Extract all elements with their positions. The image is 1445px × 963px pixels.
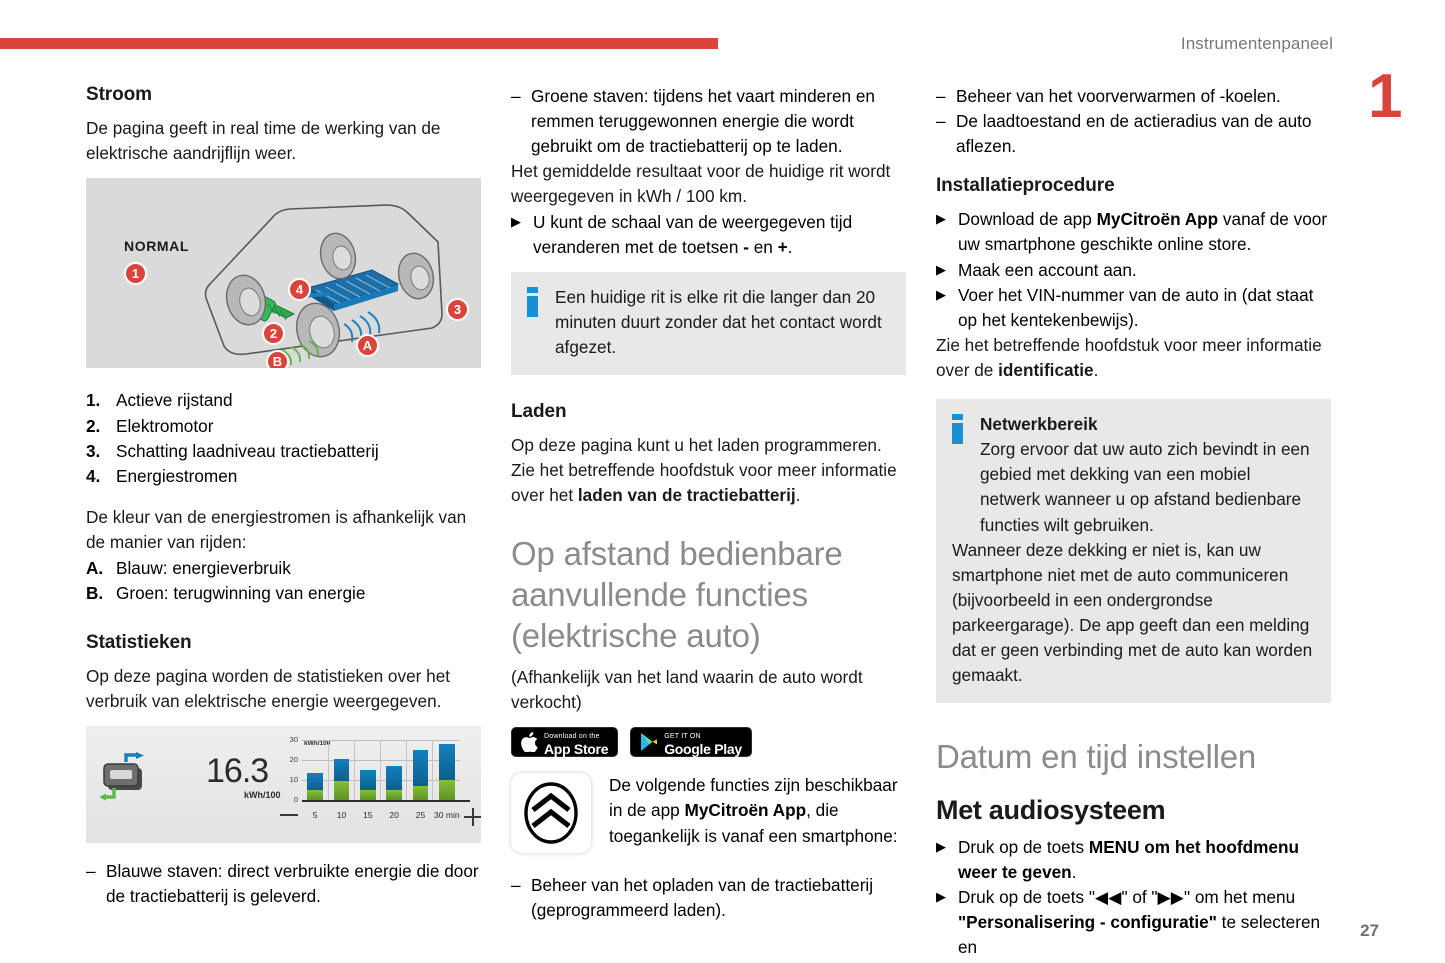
chart-x-labels: 5 10 15 20 25 30 min bbox=[302, 806, 460, 828]
item-label: Schatting laadniveau tractiebatterij bbox=[116, 439, 481, 464]
column-left: Stroom De pagina geeft in real time de w… bbox=[86, 84, 481, 910]
bar-segment-green bbox=[360, 790, 376, 800]
info-box-text: Een huidige rit is elke rit die langer d… bbox=[555, 285, 890, 360]
heading-installatieprocedure: Installatieprocedure bbox=[936, 175, 1331, 197]
app-store-badge[interactable]: Download on the App Store bbox=[511, 727, 618, 757]
fast-forward-icon: ▶▶ bbox=[1158, 887, 1184, 907]
bar-segment-blue bbox=[307, 773, 323, 790]
section-title-datum-en-tijd: Datum en tijd instellen bbox=[936, 737, 1331, 778]
dash-marker: – bbox=[936, 109, 956, 159]
header-accent-bar bbox=[0, 38, 718, 49]
netwerkbereik-paragraph-1: Zorg ervoor dat uw auto zich bevindt in … bbox=[980, 439, 1310, 534]
y-tick-20: 20 bbox=[290, 755, 298, 764]
item-label: Blauw: energieverbruik bbox=[116, 556, 481, 581]
scale-change-text: U kunt de schaal van de weergegeven tijd… bbox=[533, 210, 906, 260]
x-tick-label: 30 min bbox=[434, 806, 460, 828]
install-step-2: ▶ Maak een account aan. bbox=[936, 258, 1331, 283]
stacked-bar bbox=[439, 744, 455, 800]
bar-segment-blue bbox=[413, 750, 429, 786]
column-right: – Beheer van het voorverwarmen of -koele… bbox=[936, 84, 1331, 960]
item-letter: B. bbox=[86, 581, 116, 606]
scale-increase-icon-bar[interactable] bbox=[464, 816, 481, 818]
install-step-2-text: Maak een account aan. bbox=[958, 258, 1331, 283]
y-tick-30: 30 bbox=[290, 735, 298, 744]
average-consumption-unit: kWh/100 bbox=[244, 790, 281, 800]
blue-bars-text: Blauwe staven: direct verbruikte energie… bbox=[106, 859, 481, 909]
laden-text: Op deze pagina kunt u het laden programm… bbox=[511, 433, 906, 508]
citroen-logo-icon bbox=[523, 782, 579, 844]
app-store-badges: Download on the App Store GET IT ON Goog… bbox=[511, 727, 906, 757]
arrow-marker: ▶ bbox=[511, 210, 533, 260]
kleur-intro-text: De kleur van de energiestromen is afhank… bbox=[86, 505, 481, 555]
netwerkbereik-paragraph-2: Wanneer deze dekking er niet is, kan uw … bbox=[952, 538, 1315, 689]
heading-met-audiosysteem: Met audiosysteem bbox=[936, 794, 1331, 826]
powertrain-legend-list: 1. Actieve rijstand 2. Elektromotor 3. S… bbox=[86, 388, 481, 489]
section-title-remote-functions: Op afstand bedienbare aanvullende functi… bbox=[511, 534, 906, 657]
item-number: 1. bbox=[86, 388, 116, 413]
x-tick-label: 25 bbox=[407, 806, 433, 828]
bar-slot bbox=[434, 740, 460, 800]
bar-slot bbox=[381, 740, 407, 800]
bar-segment-blue bbox=[386, 766, 402, 790]
install-step-3: ▶ Voer het VIN-nummer van de auto in (da… bbox=[936, 283, 1331, 333]
bar-segment-blue bbox=[439, 744, 455, 780]
scale-change-instruction: ▶ U kunt de schaal van de weergegeven ti… bbox=[511, 210, 906, 260]
dash-marker: – bbox=[86, 859, 106, 909]
item-number: 4. bbox=[86, 464, 116, 489]
arrow-marker: ▶ bbox=[936, 258, 958, 283]
chapter-number: 1 bbox=[1368, 66, 1402, 128]
google-play-badge[interactable]: GET IT ON Google Play bbox=[630, 727, 752, 757]
remote-function-item-2: – Beheer van het voorverwarmen of -koele… bbox=[936, 84, 1331, 109]
blue-bars-note: – Blauwe staven: direct verbruikte energ… bbox=[86, 859, 481, 909]
identificatie-reference-text: Zie het betreffende hoofdstuk voor meer … bbox=[936, 333, 1331, 383]
page-number: 27 bbox=[1360, 921, 1379, 941]
bar-segment-green bbox=[307, 790, 323, 800]
y-tick-0: 0 bbox=[294, 795, 298, 804]
info-icon bbox=[952, 412, 980, 538]
netwerkbereik-body: NetwerkbereikZorg ervoor dat uw auto zic… bbox=[980, 412, 1315, 538]
app-store-badge-small: Download on the bbox=[544, 733, 600, 740]
audio-step-1-text: Druk op de toets MENU om het hoofdmenu w… bbox=[958, 835, 1331, 885]
page-header-title: Instrumentenpaneel bbox=[1181, 34, 1333, 54]
bar-slot bbox=[407, 740, 433, 800]
item-letter: A. bbox=[86, 556, 116, 581]
figure-powertrain-diagram: NORMAL bbox=[86, 178, 481, 368]
dash-marker: – bbox=[511, 873, 531, 923]
bar-segment-green bbox=[334, 781, 350, 800]
arrow-marker: ▶ bbox=[936, 207, 958, 257]
column-middle: – Groene staven: tijdens het vaart minde… bbox=[511, 84, 906, 924]
dash-marker: – bbox=[511, 84, 531, 159]
arrow-marker: ▶ bbox=[936, 885, 958, 960]
item-number: 2. bbox=[86, 414, 116, 439]
google-play-badge-small: GET IT ON bbox=[664, 733, 701, 740]
google-play-icon bbox=[640, 732, 658, 752]
chart-y-axis: 30 20 10 0 bbox=[282, 738, 300, 802]
info-box-current-trip: Een huidige rit is elke rit die langer d… bbox=[511, 272, 906, 375]
audio-step-2-text: Druk op de toets "◀◀" of "▶▶" om het men… bbox=[958, 885, 1331, 960]
statistieken-intro-text: Op deze pagina worden de statistieken ov… bbox=[86, 664, 481, 714]
audio-step-2: ▶ Druk op de toets "◀◀" of "▶▶" om het m… bbox=[936, 885, 1331, 960]
green-bars-text: Groene staven: tijdens het vaart mindere… bbox=[531, 84, 906, 159]
heading-laden: Laden bbox=[511, 401, 906, 423]
list-item: A. Blauw: energieverbruik bbox=[86, 556, 481, 581]
install-step-1: ▶ Download de app MyCitroën App vanaf de… bbox=[936, 207, 1331, 257]
heading-stroom: Stroom bbox=[86, 84, 481, 106]
install-step-3-text: Voer het VIN-nummer van de auto in (dat … bbox=[958, 283, 1331, 333]
remote-function-item-3: – De laadtoestand en de actieradius van … bbox=[936, 109, 1331, 159]
consumption-bar-chart: 30 20 10 0 kWh/100 bbox=[282, 738, 472, 836]
average-consumption-value: 16.3 bbox=[206, 752, 268, 791]
stacked-bar bbox=[360, 770, 376, 800]
rewind-icon: ◀◀ bbox=[1095, 887, 1121, 907]
item-label: Groen: terugwinning van energie bbox=[116, 581, 481, 606]
arrow-marker: ▶ bbox=[936, 283, 958, 333]
netwerkbereik-title: Netwerkbereik bbox=[980, 414, 1098, 434]
bar-slot bbox=[355, 740, 381, 800]
item-label: Elektromotor bbox=[116, 414, 481, 439]
stroom-intro-text: De pagina geeft in real time de werking … bbox=[86, 116, 481, 166]
bar-segment-green bbox=[439, 780, 455, 800]
green-bars-note: – Groene staven: tijdens het vaart minde… bbox=[511, 84, 906, 159]
remote-function-item-1: – Beheer van het opladen van de tractieb… bbox=[511, 873, 906, 923]
heading-statistieken: Statistieken bbox=[86, 632, 481, 654]
info-icon bbox=[527, 285, 555, 360]
arrow-marker: ▶ bbox=[936, 835, 958, 885]
info-box-netwerkbereik: NetwerkbereikZorg ervoor dat uw auto zic… bbox=[936, 399, 1331, 703]
y-tick-10: 10 bbox=[290, 775, 298, 784]
energy-battery-icon bbox=[100, 752, 162, 808]
stacked-bar bbox=[334, 759, 350, 800]
dash-marker: – bbox=[936, 84, 956, 109]
bar-segment-blue bbox=[334, 759, 350, 781]
list-item: 4. Energiestromen bbox=[86, 464, 481, 489]
manual-page: Instrumentenpaneel 1 27 Stroom De pagina… bbox=[0, 0, 1445, 963]
list-item: 3. Schatting laadniveau tractiebatterij bbox=[86, 439, 481, 464]
stacked-bar bbox=[413, 750, 429, 800]
bar-slot bbox=[302, 740, 328, 800]
country-availability-note: (Afhankelijk van het land waarin de auto… bbox=[511, 665, 906, 715]
item-label: Energiestromen bbox=[116, 464, 481, 489]
app-store-badge-large: App Store bbox=[544, 741, 608, 757]
x-tick-label: 5 bbox=[302, 806, 328, 828]
figure-energy-statistics-screen: 16.3 kWh/100 30 20 10 0 kWh/100 bbox=[86, 726, 481, 843]
chart-bars bbox=[302, 740, 460, 800]
item-label: Actieve rijstand bbox=[116, 388, 481, 413]
google-play-badge-large: Google Play bbox=[664, 741, 742, 757]
list-item: 2. Elektromotor bbox=[86, 414, 481, 439]
item-number: 3. bbox=[86, 439, 116, 464]
stacked-bar bbox=[386, 766, 402, 800]
bar-segment-green bbox=[413, 786, 429, 800]
list-item: 1. Actieve rijstand bbox=[86, 388, 481, 413]
remote-function-text: Beheer van het opladen van de tractiebat… bbox=[531, 873, 906, 923]
average-result-text: Het gemiddelde resultaat voor de huidige… bbox=[511, 159, 906, 209]
callout-b: B bbox=[266, 350, 289, 368]
apple-icon bbox=[521, 732, 538, 752]
chart-plot-area: kWh/100 bbox=[302, 740, 460, 802]
remote-function-text: De laadtoestand en de actieradius van de… bbox=[956, 109, 1331, 159]
stacked-bar bbox=[307, 773, 323, 800]
mycitroen-app-block: De volgende functies zijn beschikbaar in… bbox=[511, 773, 906, 853]
x-tick-label: 10 bbox=[328, 806, 354, 828]
install-step-1-text: Download de app MyCitroën App vanaf de v… bbox=[958, 207, 1331, 257]
bar-segment-green bbox=[386, 790, 402, 800]
x-tick-label: 15 bbox=[355, 806, 381, 828]
energy-color-legend-list: A. Blauw: energieverbruik B. Groen: teru… bbox=[86, 556, 481, 607]
mycitroen-app-text: De volgende functies zijn beschikbaar in… bbox=[609, 773, 906, 848]
list-item: B. Groen: terugwinning van energie bbox=[86, 581, 481, 606]
citroen-logo-tile bbox=[511, 773, 591, 853]
scale-decrease-icon[interactable] bbox=[280, 814, 298, 816]
chart-x-axis bbox=[302, 800, 470, 802]
bar-slot bbox=[328, 740, 354, 800]
remote-function-text: Beheer van het voorverwarmen of -koelen. bbox=[956, 84, 1331, 109]
bar-segment-blue bbox=[360, 770, 376, 790]
x-tick-label: 20 bbox=[381, 806, 407, 828]
audio-step-1: ▶ Druk op de toets MENU om het hoofdmenu… bbox=[936, 835, 1331, 885]
